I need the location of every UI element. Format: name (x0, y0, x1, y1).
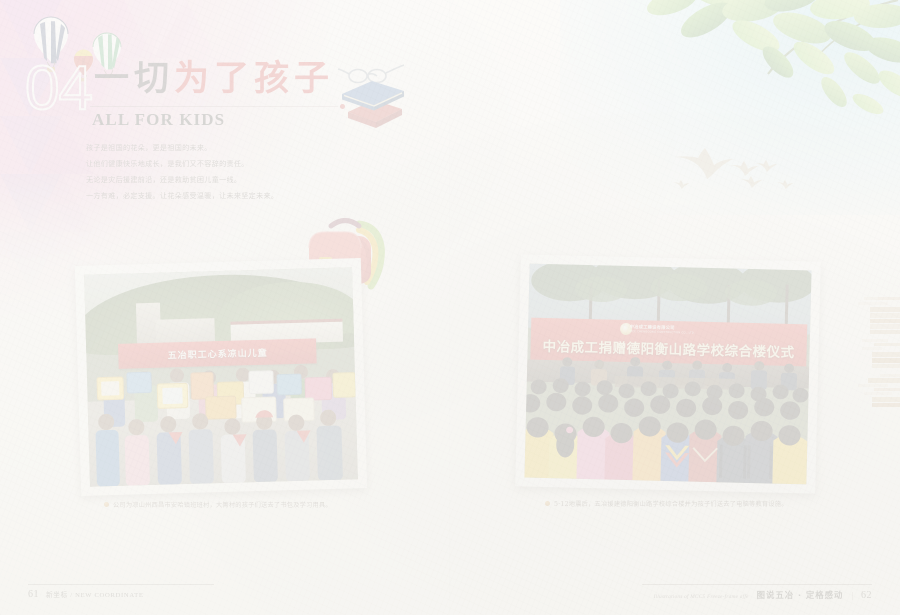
books-and-glasses-icon (328, 62, 420, 130)
section-title-chinese: 一切为了孩子 (94, 61, 334, 98)
crowd-of-students-right (524, 353, 809, 484)
caption-bullet-icon (104, 502, 109, 507)
footer-rule-left (28, 584, 214, 585)
photo-image-left: 五冶职工心系凉山儿童 (84, 267, 358, 486)
footer-right: Illustrations of MCC5 Freeze-frame affe … (654, 589, 872, 601)
photo-image-right: 中冶成工建设有限公司 MCC CHENGGONG CONSTRUCTION CO… (524, 264, 811, 485)
intro-line-4: 一方有难，必定支援。让花朵感受温暖，让未来坚定未来。 (86, 188, 278, 204)
intro-paragraph: 孩子是祖国的花朵，更是祖国的未来。 让他们健康快乐地成长，是我们又不容辞的责任。… (86, 140, 278, 204)
caption-right-text: 5·12地震后，五冶援建德阳衡山路学校综合楼并为孩子们送去了电脑等教育设施。 (554, 499, 788, 508)
photo-card-left[interactable]: 五冶职工心系凉山儿童 (75, 258, 367, 496)
section-number: 04 (25, 58, 92, 120)
section-title-english: ALL FOR KIDS (92, 110, 225, 130)
intro-line-2: 让他们健康快乐地成长，是我们又不容辞的责任。 (86, 156, 278, 172)
decorative-stripe-pattern (848, 295, 900, 410)
footer-separator: | (851, 591, 853, 600)
title-cn-black: 一切 (94, 58, 174, 99)
caption-left: 公司为凉山州西昌市安哈镇班班村，大箐村的孩子们送去了书包及学习用具。 (104, 500, 332, 509)
title-cn-red: 为了孩子 (174, 58, 334, 99)
footer-right-chinese: 图说五冶 · 定格感动 (757, 589, 844, 601)
flying-birds-silhouette-icon (665, 130, 805, 200)
caption-left-text: 公司为凉山州西昌市安哈镇班班村，大箐村的孩子们送去了书包及学习用具。 (113, 500, 332, 509)
intro-line-3: 无论是灾后援建前沿，还是救助贫困儿童一线。 (86, 172, 278, 188)
page-number-right: 62 (861, 590, 872, 601)
footer-left: 61 新坐标 / NEW COORDINATE (28, 589, 144, 600)
company-logo-text: 中冶成工建设有限公司 MCC CHENGGONG CONSTRUCTION CO… (630, 324, 696, 335)
title-underline-rule (90, 106, 338, 107)
footer-right-english: Illustrations of MCC5 Freeze-frame affe (654, 594, 749, 600)
page-number-left: 61 (28, 589, 39, 600)
caption-bullet-icon (545, 501, 550, 506)
intro-line-1: 孩子是祖国的花朵，更是祖国的未来。 (86, 140, 278, 156)
crowd-of-children-left (86, 348, 358, 487)
caption-right: 5·12地震后，五冶援建德阳衡山路学校综合楼并为孩子们送去了电脑等教育设施。 (545, 499, 788, 508)
footer-left-label: 新坐标 / NEW COORDINATE (46, 589, 144, 599)
magazine-spread: 04 一切为了孩子 ALL FOR KIDS (0, 0, 900, 615)
footer-rule-right (642, 584, 872, 585)
photo-card-right[interactable]: 中冶成工建设有限公司 MCC CHENGGONG CONSTRUCTION CO… (515, 254, 821, 493)
book-spine-fold (449, 0, 451, 615)
